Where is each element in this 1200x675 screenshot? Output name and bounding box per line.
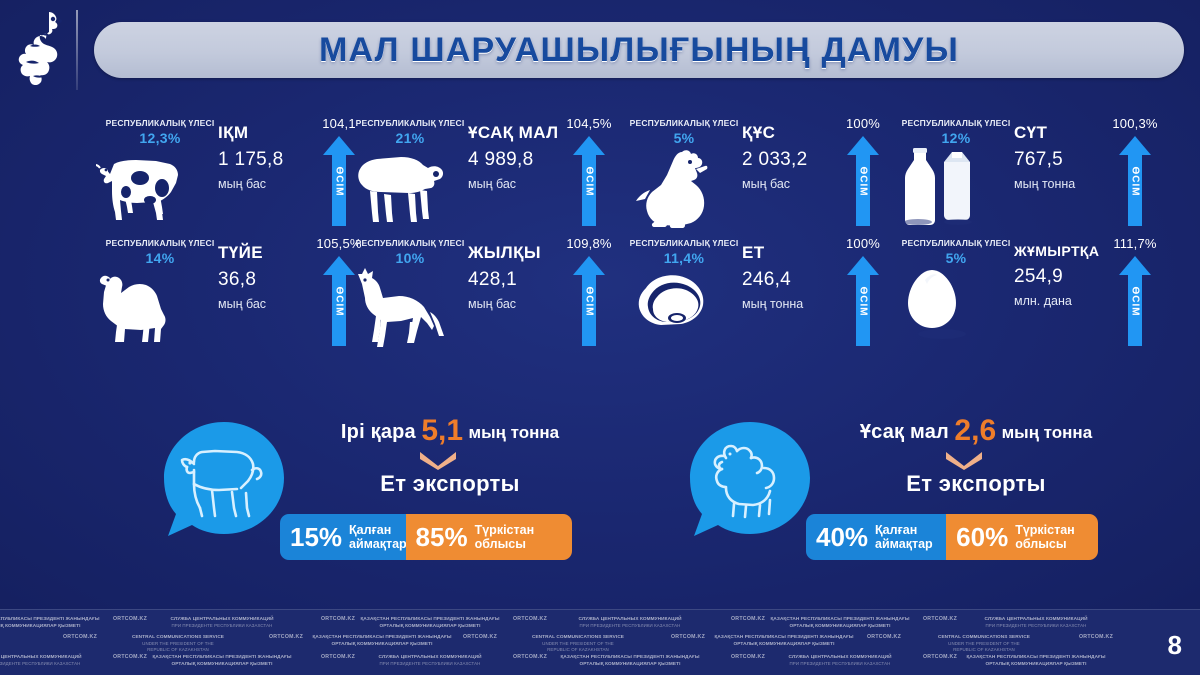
slide-footer: ҚАЗАҚСТАН РЕСПУБЛИКАСЫ ПРЕЗИДЕНТІ ЖАНЫНД… [0, 609, 1200, 675]
share-label: РЕСПУБЛИКАЛЫҚ ҮЛЕСІ [896, 118, 1016, 128]
share-wrap: РЕСПУБЛИКАЛЫҚ ҮЛЕСІ 5% [896, 238, 1016, 266]
animal-value: 4 989,8 [468, 150, 560, 170]
up-arrow-icon [847, 256, 879, 346]
animal-name: СҮТ [1014, 124, 1106, 142]
growth-percent: 104,5% [560, 116, 618, 131]
animal-unit: мың бас [468, 297, 560, 311]
slide-root: МАЛ ШАРУАШЫЛЫҒЫНЫҢ ДАМУЫ РЕСПУБЛИКАЛЫҚ Ү… [0, 0, 1200, 675]
up-arrow-icon [1119, 136, 1151, 226]
footer-watermark: ORTCOM.KZ [671, 634, 705, 642]
footer-watermark: CENTRAL COMMUNICATIONS SERVICEUNDER THE … [532, 634, 624, 654]
segment-label-line1: Қалған [349, 523, 391, 537]
footer-watermark: ORTCOM.KZ [321, 616, 355, 624]
animal-unit: мың бас [218, 177, 310, 191]
split-segment-other-regions: 40% Қалған аймақтар [806, 514, 946, 560]
export-amount: 2,6 [954, 414, 996, 447]
card-info: ҰСАҚ МАЛ 4 989,8 мың бас [468, 124, 560, 191]
footer-watermark: ORTCOM.KZ [463, 634, 497, 642]
segment-label-line2: облысы [475, 537, 526, 551]
growth-percent: 111,7% [1106, 236, 1164, 251]
chevron-down-icon [418, 450, 458, 470]
animal-name: ТҮЙЕ [218, 244, 310, 262]
segment-label-line1: Түркістан [475, 523, 535, 537]
livestock-card-milk: РЕСПУБЛИКАЛЫҚ ҮЛЕСІ 12% С [892, 118, 1164, 233]
footer-watermark: ORTCOM.KZ [513, 654, 547, 662]
export-split-bar: 15% Қалған аймақтар 85% Түркістан облысы [280, 514, 572, 560]
growth-indicator: 100,3% ӨСІМ [1106, 118, 1164, 230]
segment-label: Қалған аймақтар [349, 523, 407, 551]
footer-watermark: ORTCOM.KZ [923, 616, 957, 624]
animal-name: ҚҰС [742, 124, 834, 142]
footer-watermark: ORTCOM.KZ [513, 616, 547, 624]
animal-value: 36,8 [218, 270, 310, 290]
share-label: РЕСПУБЛИКАЛЫҚ ҮЛЕСІ [100, 238, 220, 248]
meat-icon [620, 264, 742, 348]
share-wrap: РЕСПУБЛИКАЛЫҚ ҮЛЕСІ 14% [100, 238, 220, 266]
share-label: РЕСПУБЛИКАЛЫҚ ҮЛЕСІ [350, 118, 470, 128]
share-label: РЕСПУБЛИКАЛЫҚ ҮЛЕСІ [624, 238, 744, 248]
share-wrap: РЕСПУБЛИКАЛЫҚ ҮЛЕСІ 10% [350, 238, 470, 266]
card-info: СҮТ 767,5 мың тонна [1014, 124, 1106, 191]
header-divider [76, 10, 78, 90]
segment-label-line2: аймақтар [349, 537, 407, 551]
animal-unit: мың тонна [1014, 177, 1106, 191]
footer-watermark: ҚАЗАҚСТАН РЕСПУБЛИКАСЫ ПРЕЗИДЕНТІ ЖАНЫНД… [770, 616, 909, 630]
horse-icon [346, 264, 468, 348]
footer-watermark: ORTCOM.KZ [1079, 634, 1113, 642]
growth-indicator: 104,5% ӨСІМ [560, 118, 618, 230]
card-info: ІҚМ 1 175,8 мың бас [218, 124, 310, 191]
export-block-cattle: Ірі қара 5,1 мың тонна Ет экспорты 15% Қ… [150, 408, 610, 578]
export-subtitle: Ет экспорты [290, 471, 610, 497]
segment-label-line2: облысы [1015, 537, 1066, 551]
split-segment-turkistan: 60% Түркістан облысы [946, 514, 1098, 560]
segment-percent: 15% [290, 522, 342, 553]
card-info: ЖҰМЫРТҚА 254,9 млн. дана [1014, 244, 1106, 308]
livestock-card-poultry: РЕСПУБЛИКАЛЫҚ ҮЛЕСІ 5% ҚҰС 2 0 [620, 118, 892, 233]
animal-unit: мың тонна [742, 297, 834, 311]
export-split-bar: 40% Қалған аймақтар 60% Түркістан облысы [806, 514, 1098, 560]
card-info: ТҮЙЕ 36,8 мың бас [218, 244, 310, 311]
share-label: РЕСПУБЛИКАЛЫҚ ҮЛЕСІ [896, 238, 1016, 248]
milk-bottle-icon [892, 144, 1014, 228]
share-wrap: РЕСПУБЛИКАЛЫҚ ҮЛЕСІ 5% [624, 118, 744, 146]
export-amount: 5,1 [421, 414, 463, 447]
footer-watermark: ҚАЗАҚСТАН РЕСПУБЛИКАСЫ ПРЕЗИДЕНТІ ЖАНЫНД… [966, 654, 1105, 668]
growth-percent: 109,8% [560, 236, 618, 251]
share-label: РЕСПУБЛИКАЛЫҚ ҮЛЕСІ [100, 118, 220, 128]
footer-watermark: ҚАЗАҚСТАН РЕСПУБЛИКАСЫ ПРЕЗИДЕНТІ ЖАНЫНД… [0, 616, 100, 630]
footer-watermark: ORTCOM.KZ [731, 654, 765, 662]
segment-label: Қалған аймақтар [875, 523, 933, 551]
cow-icon [96, 144, 218, 228]
footer-watermark: ORTCOM.KZ [113, 654, 147, 662]
split-segment-turkistan: 85% Түркістан облысы [406, 514, 572, 560]
footer-watermark: СЛУЖБА ЦЕНТРАЛЬНЫХ КОММУНИКАЦИЙПРИ ПРЕЗИ… [578, 616, 681, 629]
up-arrow-icon [573, 256, 605, 346]
sheep-icon [346, 144, 468, 228]
segment-label-line1: Түркістан [1015, 523, 1075, 537]
animal-value: 254,9 [1014, 267, 1106, 287]
card-info: ЖЫЛҚЫ 428,1 мың бас [468, 244, 560, 311]
export-headline: Ұсақ мал 2,6 мың тонна [816, 414, 1136, 448]
footer-watermark: ҚАЗАҚСТАН РЕСПУБЛИКАСЫ ПРЕЗИДЕНТІ ЖАНЫНД… [560, 654, 699, 668]
split-segment-other-regions: 15% Қалған аймақтар [280, 514, 406, 560]
card-info: ҚҰС 2 033,2 мың бас [742, 124, 834, 191]
segment-label-line2: аймақтар [875, 537, 933, 551]
chevron-down-icon [944, 450, 984, 470]
export-block-small-cattle: Ұсақ мал 2,6 мың тонна Ет экспорты 40% Қ… [676, 408, 1136, 578]
share-wrap: РЕСПУБЛИКАЛЫҚ ҮЛЕСІ 12% [896, 118, 1016, 146]
growth-percent: 100,3% [1106, 116, 1164, 131]
up-arrow-icon [573, 136, 605, 226]
livestock-card-grid: РЕСПУБЛИКАЛЫҚ ҮЛЕСІ 12,3% [96, 118, 1116, 348]
export-headline: Ірі қара 5,1 мың тонна [290, 414, 610, 448]
footer-watermark: СЛУЖБА ЦЕНТРАЛЬНЫХ КОММУНИКАЦИЙПРИ ПРЕЗИ… [984, 616, 1087, 629]
animal-value: 1 175,8 [218, 150, 310, 170]
footer-watermark: ORTCOM.KZ [867, 634, 901, 642]
footer-watermark: СЛУЖБА ЦЕНТРАЛЬНЫХ КОММУНИКАЦИЙПРИ ПРЕЗИ… [788, 654, 891, 667]
footer-watermark: ORTCOM.KZ [113, 616, 147, 624]
export-species: Ұсақ мал [860, 421, 949, 443]
page-number: 8 [1168, 630, 1182, 661]
growth-percent: 100% [834, 116, 892, 131]
growth-percent: 100% [834, 236, 892, 251]
growth-indicator: 109,8% ӨСІМ [560, 238, 618, 350]
animal-value: 767,5 [1014, 150, 1106, 170]
export-unit: мың тонна [469, 423, 560, 442]
livestock-card-horse: РЕСПУБЛИКАЛЫҚ ҮЛЕСІ 10% ЖЫЛҚЫ 428,1 [346, 238, 618, 353]
segment-percent: 60% [956, 522, 1008, 553]
animal-name: ЖҰМЫРТҚА [1014, 244, 1106, 259]
segment-percent: 40% [816, 522, 868, 553]
up-arrow-icon [847, 136, 879, 226]
footer-watermark: ORTCOM.KZ [731, 616, 765, 624]
up-arrow-icon [1119, 256, 1151, 346]
share-wrap: РЕСПУБЛИКАЛЫҚ ҮЛЕСІ 21% [350, 118, 470, 146]
cow-bubble-icon [160, 418, 288, 546]
growth-indicator: 111,7% ӨСІМ [1106, 238, 1164, 350]
footer-watermark: ORTCOM.KZ [63, 634, 97, 642]
footer-watermark: ҚАЗАҚСТАН РЕСПУБЛИКАСЫ ПРЕЗИДЕНТІ ЖАНЫНД… [714, 634, 853, 648]
share-wrap: РЕСПУБЛИКАЛЫҚ ҮЛЕСІ 11,4% [624, 238, 744, 266]
segment-label-line1: Қалған [875, 523, 917, 537]
segment-percent: 85% [416, 522, 468, 553]
footer-watermark: ҚАЗАҚСТАН РЕСПУБЛИКАСЫ ПРЕЗИДЕНТІ ЖАНЫНД… [152, 654, 291, 668]
animal-value: 2 033,2 [742, 150, 834, 170]
animal-unit: мың бас [218, 297, 310, 311]
animal-name: ҰСАҚ МАЛ [468, 124, 560, 142]
livestock-card-egg: РЕСПУБЛИКАЛЫҚ ҮЛЕСІ 5% ЖҰМЫРТҚА 254,9 мл… [892, 238, 1164, 353]
share-wrap: РЕСПУБЛИКАЛЫҚ ҮЛЕСІ 12,3% [100, 118, 220, 146]
animal-name: ІҚМ [218, 124, 310, 142]
livestock-card-cow: РЕСПУБЛИКАЛЫҚ ҮЛЕСІ 12,3% [96, 118, 368, 233]
export-unit: мың тонна [1002, 423, 1093, 442]
snow-leopard-emblem [8, 6, 72, 92]
share-label: РЕСПУБЛИКАЛЫҚ ҮЛЕСІ [624, 118, 744, 128]
growth-indicator: 100% ӨСІМ [834, 238, 892, 350]
livestock-card-sheep: РЕСПУБЛИКАЛЫҚ ҮЛЕСІ 21% ҰСАҚ МАЛ [346, 118, 618, 233]
page-title: МАЛ ШАРУАШЫЛЫҒЫНЫҢ ДАМУЫ [319, 31, 959, 70]
animal-name: ЕТ [742, 244, 834, 262]
footer-watermark: СЛУЖБА ЦЕНТРАЛЬНЫХ КОММУНИКАЦИЙПРИ ПРЕЗИ… [378, 654, 481, 667]
title-pill: МАЛ ШАРУАШЫЛЫҒЫНЫҢ ДАМУЫ [94, 22, 1184, 78]
chicken-icon [620, 144, 742, 228]
animal-unit: мың бас [468, 177, 560, 191]
footer-watermark: CENTRAL COMMUNICATIONS SERVICEUNDER THE … [938, 634, 1030, 654]
export-subtitle: Ет экспорты [816, 471, 1136, 497]
livestock-card-meat: РЕСПУБЛИКАЛЫҚ ҮЛЕСІ 11,4% ЕТ 246,4 [620, 238, 892, 353]
animal-value: 246,4 [742, 270, 834, 290]
segment-label: Түркістан облысы [475, 523, 535, 551]
footer-watermark: ҚАЗАҚСТАН РЕСПУБЛИКАСЫ ПРЕЗИДЕНТІ ЖАНЫНД… [312, 634, 451, 648]
livestock-card-camel: РЕСПУБЛИКАЛЫҚ ҮЛЕСІ 14% ТҮЙЕ 36,8 м [96, 238, 368, 353]
animal-name: ЖЫЛҚЫ [468, 244, 560, 262]
share-label: РЕСПУБЛИКАЛЫҚ ҮЛЕСІ [350, 238, 470, 248]
export-species: Ірі қара [341, 421, 416, 443]
footer-watermark: ORTCOM.KZ [321, 654, 355, 662]
segment-label: Түркістан облысы [1015, 523, 1075, 551]
footer-watermark: СЛУЖБА ЦЕНТРАЛЬНЫХ КОММУНИКАЦИЙПРИ ПРЕЗИ… [170, 616, 273, 629]
footer-watermark: CENTRAL COMMUNICATIONS SERVICEUNDER THE … [132, 634, 224, 654]
growth-indicator: 100% ӨСІМ [834, 118, 892, 230]
animal-unit: млн. дана [1014, 294, 1106, 308]
slide-header: МАЛ ШАРУАШЫЛЫҒЫНЫҢ ДАМУЫ [0, 0, 1200, 100]
footer-watermark: СЛУЖБА ЦЕНТРАЛЬНЫХ КОММУНИКАЦИЙПРИ ПРЕЗИ… [0, 654, 82, 667]
animal-value: 428,1 [468, 270, 560, 290]
animal-unit: мың бас [742, 177, 834, 191]
footer-watermark: ҚАЗАҚСТАН РЕСПУБЛИКАСЫ ПРЕЗИДЕНТІ ЖАНЫНД… [360, 616, 499, 630]
sheep-bubble-icon [686, 418, 814, 546]
egg-icon [892, 264, 1014, 348]
card-info: ЕТ 246,4 мың тонна [742, 244, 834, 311]
footer-watermark: ORTCOM.KZ [269, 634, 303, 642]
camel-icon [96, 264, 218, 348]
footer-watermark: ORTCOM.KZ [923, 654, 957, 662]
